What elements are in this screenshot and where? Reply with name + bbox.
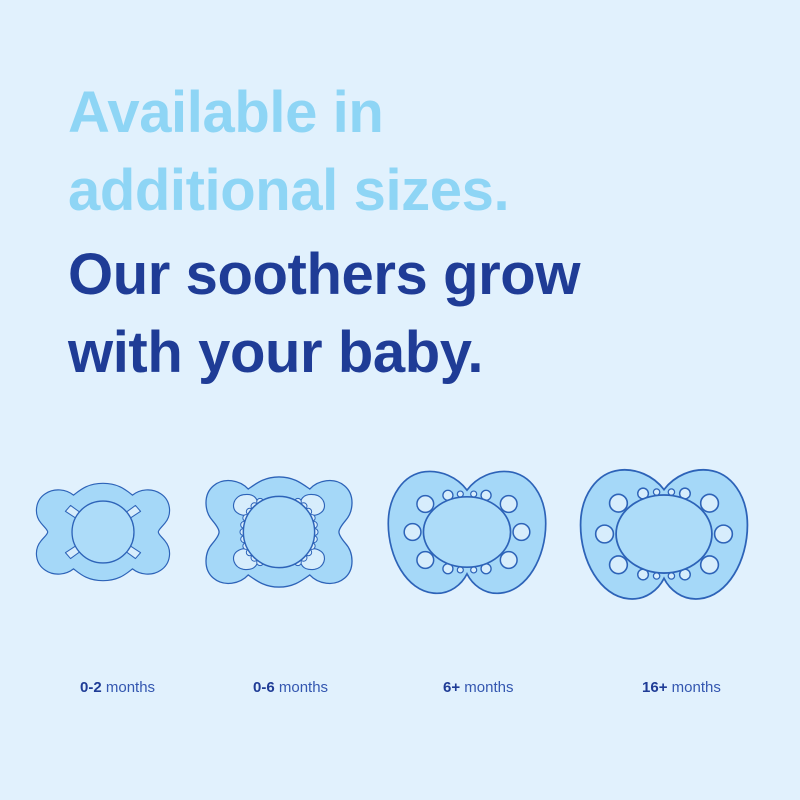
label-unit-2: months (460, 679, 513, 696)
soother-16-plus-months (575, 463, 753, 605)
heading-light-line-2: additional sizes. (68, 152, 728, 230)
soother-16-plus-months-icon (575, 463, 753, 605)
heading-light-line-1: Available in (68, 74, 728, 152)
soother-6-plus-months (382, 465, 552, 599)
soother-label-row: 0-2 months 0-6 months 6+ months 16+ mont… (0, 655, 800, 685)
soother-label-0-2-months: 0-2 months (55, 655, 155, 721)
label-unit-0: months (102, 679, 155, 696)
label-unit-3: months (667, 679, 720, 696)
promo-page: Available in additional sizes. Our sooth… (0, 0, 800, 800)
label-unit-1: months (275, 679, 328, 696)
soother-size-row (0, 455, 800, 615)
soother-0-6-months (198, 467, 360, 597)
soother-0-2-months (28, 473, 178, 591)
heading-dark-line-1: Our soothers grow (68, 236, 728, 314)
soother-label-16-plus-months: 16+ months (617, 655, 721, 721)
soother-0-2-months-icon (28, 473, 178, 591)
heading-dark-block: Our soothers grow with your baby. (68, 236, 728, 392)
soother-label-0-6-months: 0-6 months (228, 655, 328, 721)
label-age-0: 0-2 (80, 679, 102, 696)
soother-label-6-plus-months: 6+ months (418, 655, 513, 721)
label-age-3: 16+ (642, 679, 667, 696)
heading-block: Available in additional sizes. Our sooth… (68, 74, 728, 392)
soother-6-plus-months-icon (382, 465, 552, 599)
label-age-2: 6+ (443, 679, 460, 696)
label-age-1: 0-6 (253, 679, 275, 696)
heading-dark-line-2: with your baby. (68, 314, 728, 392)
soother-0-6-months-icon (198, 467, 360, 597)
